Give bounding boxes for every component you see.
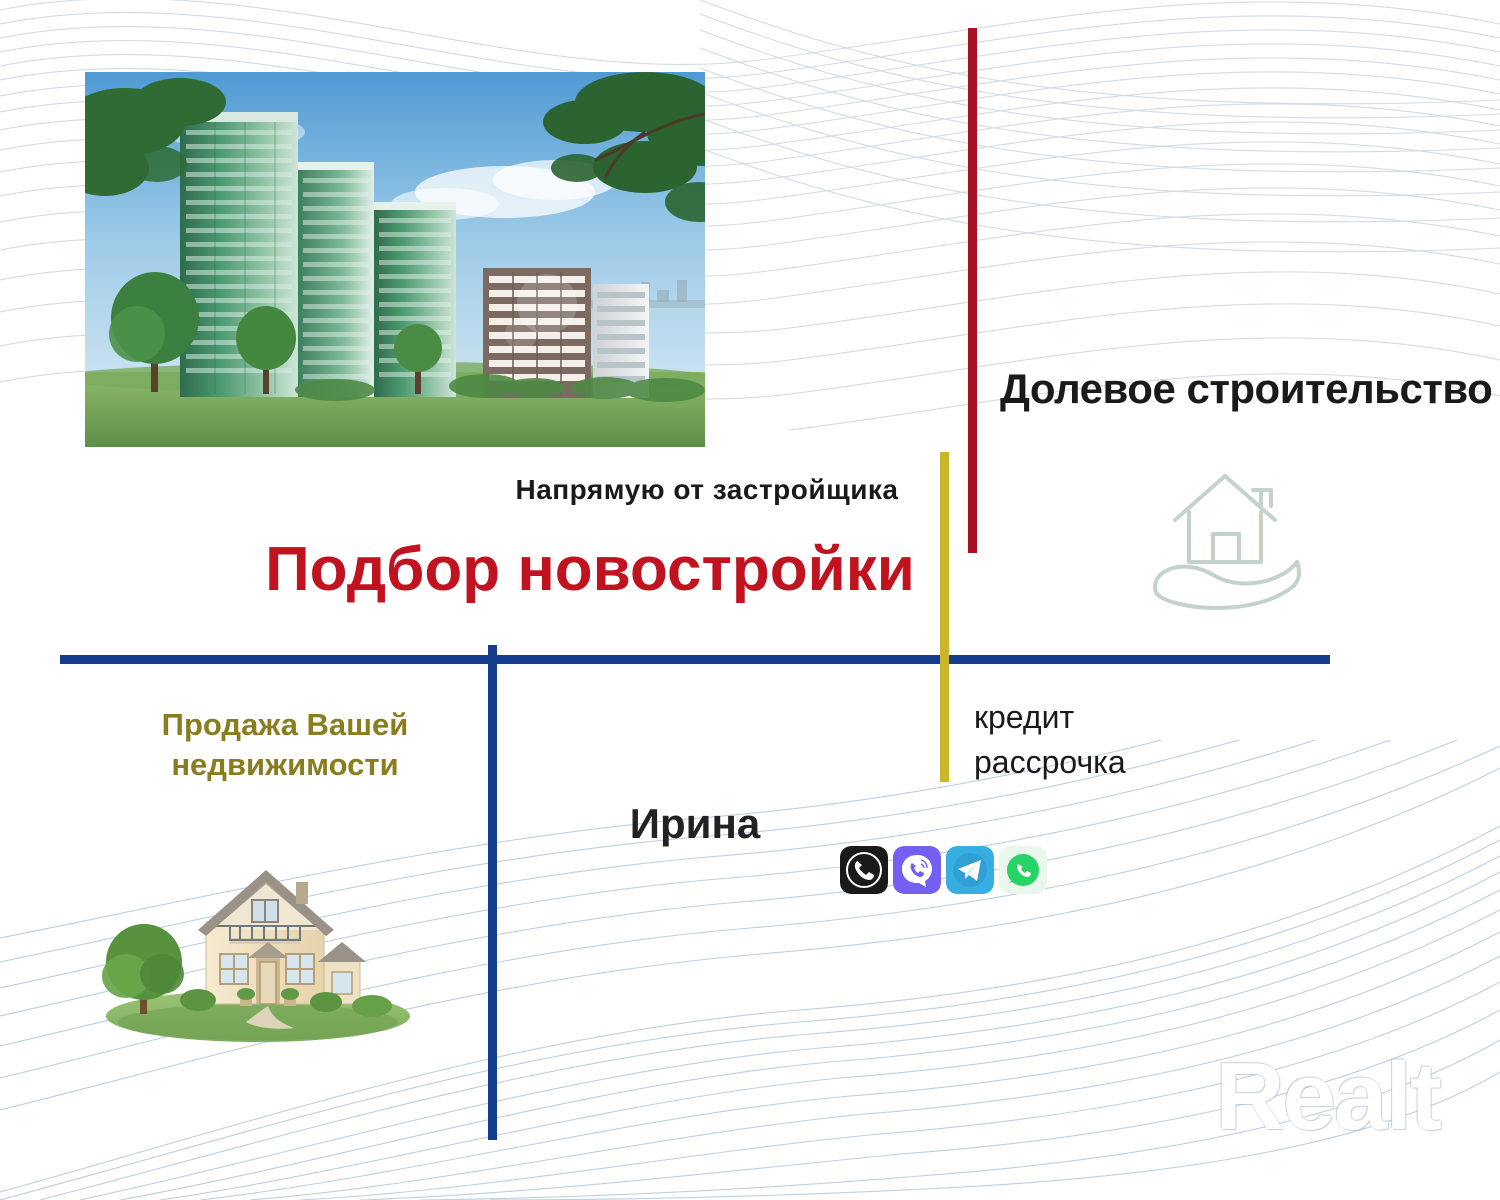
- label-sell-your-property: Продажа Вашей недвижимости: [110, 705, 460, 784]
- banner-canvas: Напрямую от застройщика Подбор новострой…: [0, 0, 1500, 1200]
- page-title: Подбор новостройки: [240, 534, 940, 605]
- sale-line-2: недвижимости: [110, 745, 460, 785]
- house-in-hand-icon: [1145, 450, 1305, 615]
- apartment-complex-photo: [85, 72, 705, 447]
- label-shared-construction: Долевое строительство: [1000, 365, 1492, 413]
- label-financing-options: кредит рассрочка: [974, 695, 1126, 786]
- watermark-realt: Realt: [1215, 1042, 1440, 1152]
- vertical-divider-red: [968, 28, 977, 553]
- cottage-house-illustration: [80, 830, 430, 1045]
- telegram-icon[interactable]: [946, 846, 994, 894]
- financing-line-1: кредит: [974, 695, 1126, 740]
- horizontal-divider-blue: [60, 655, 1330, 664]
- vertical-divider-yellow: [940, 452, 949, 782]
- vertical-divider-blue: [488, 645, 497, 1140]
- viber-icon[interactable]: [893, 846, 941, 894]
- subheadline-direct-from-developer: Напрямую от застройщика: [487, 474, 927, 506]
- sale-line-1: Продажа Вашей: [110, 705, 460, 745]
- agent-name: Ирина: [520, 800, 870, 848]
- whatsapp-icon[interactable]: [999, 846, 1047, 894]
- phone-icon[interactable]: [840, 846, 888, 894]
- messenger-icons: [840, 846, 1047, 894]
- financing-line-2: рассрочка: [974, 740, 1126, 785]
